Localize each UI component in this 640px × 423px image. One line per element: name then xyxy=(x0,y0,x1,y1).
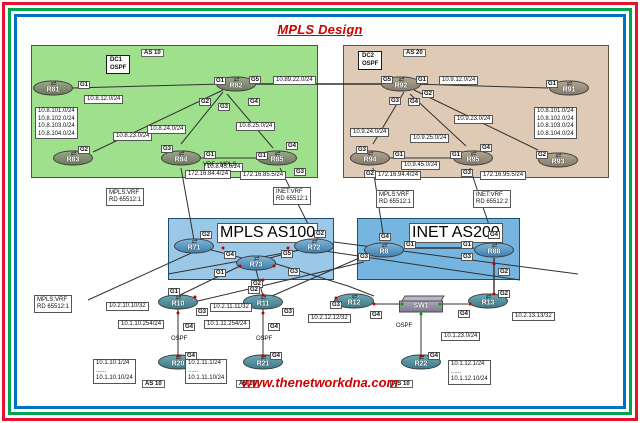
conn-dot xyxy=(177,355,180,358)
link-layer xyxy=(18,18,622,405)
router-label: R22 xyxy=(401,361,441,368)
port-r88-g3: G3 xyxy=(461,253,473,261)
port-r8-g3: G3 xyxy=(358,253,370,261)
subnet-172-16-85: 172.16.85.5/24 xyxy=(240,171,286,180)
conn-dot xyxy=(287,247,290,250)
subnet-10-1-10-254: 10.1.10.254/24 xyxy=(118,320,164,329)
router-label: R83 xyxy=(53,157,93,164)
port-r83-g2: G2 xyxy=(78,146,90,154)
router-label: R73 xyxy=(236,262,276,269)
port-r82-g4: G4 xyxy=(248,98,260,106)
port-r93-g2: G2 xyxy=(536,151,548,159)
as-badge-as10: AS 10 xyxy=(141,49,164,57)
vrf-box-mid-tan: MPLS:VRF RD 65512:1 xyxy=(376,190,414,208)
diagram-page: MPLS Design xyxy=(0,0,640,423)
port-r73-g4: G4 xyxy=(224,251,236,259)
port-r13-g4: G4 xyxy=(458,310,470,318)
port-r92-g1: G1 xyxy=(416,76,428,84)
conn-dot xyxy=(273,265,276,268)
port-r92-g3: G3 xyxy=(389,97,401,105)
conn-dot xyxy=(262,355,265,358)
conn-dot xyxy=(469,303,472,306)
port-r84-g1: G1 xyxy=(204,151,216,159)
port-r82-g2: G2 xyxy=(199,98,211,106)
loopback-r12: 10.2.12.12/32 xyxy=(308,314,351,323)
router-r73[interactable]: ⇄ R73 xyxy=(236,253,276,274)
port-r10-g3: G3 xyxy=(196,308,208,316)
label-vrf-mpls: VRF : MPLS xyxy=(203,162,236,168)
router-label: R72 xyxy=(294,245,334,252)
dc2-protocol: OSPF xyxy=(362,61,378,69)
port-r71-g2: G2 xyxy=(200,231,212,239)
loopback-r13: 10.2.13.13/32 xyxy=(512,312,555,321)
port-r92-g2: G2 xyxy=(422,90,434,98)
port-r11-g3: G3 xyxy=(282,308,294,316)
subnet-10-1-23: 10.1.23.0/24 xyxy=(441,332,480,341)
subnet-10-1-11-254: 10.1.11.254/24 xyxy=(204,320,250,329)
ospf-label-sw1: OSPF xyxy=(396,323,412,329)
ospf-label-r11: OSPF xyxy=(256,336,272,342)
port-r95-g4: G4 xyxy=(480,144,492,152)
router-r88[interactable]: ⇄ R88 xyxy=(474,240,514,261)
router-label: R84 xyxy=(161,157,201,164)
port-r73-g3: G3 xyxy=(288,268,300,276)
conn-dot-green xyxy=(420,313,423,316)
port-r92-g5: G5 xyxy=(381,76,393,84)
port-r8-g4: G4 xyxy=(379,233,391,241)
router-label: R94 xyxy=(350,157,390,164)
loopback-r10: 10.2.10.10/32 xyxy=(106,302,149,311)
switch-sw1[interactable]: SW1 xyxy=(399,296,443,313)
port-r13-g2: G2 xyxy=(498,290,510,298)
port-r10-g4: G4 xyxy=(183,323,195,331)
diagram-canvas: MPLS Design xyxy=(18,18,622,405)
switch-label: SW1 xyxy=(399,301,443,313)
router-label: R93 xyxy=(538,159,578,166)
conn-dot xyxy=(222,247,225,250)
conn-dot xyxy=(493,263,496,266)
port-r92-g4: G4 xyxy=(408,98,420,106)
router-r81[interactable]: ⇄ R81 xyxy=(33,78,73,99)
port-r12-g3: G3 xyxy=(330,301,342,309)
subnet-10-9-23: 10.9.23.0/24 xyxy=(454,115,493,124)
port-r73-g5: G5 xyxy=(281,250,293,258)
router-label: R88 xyxy=(474,249,514,256)
prefix-block-left: 10.8.101.0/24 10.8.102.0/24 10.8.103.0/2… xyxy=(35,107,78,139)
subnet-172-16-94: 172.16.94.4/24 xyxy=(375,171,421,180)
port-r84-g3: G3 xyxy=(161,145,173,153)
conn-dot xyxy=(262,279,265,282)
subnet-10-9-24: 10.9.24.0/24 xyxy=(350,128,389,137)
port-r88-g2: G2 xyxy=(498,268,510,276)
port-r11-g4: G4 xyxy=(268,323,280,331)
port-r88-g4: G4 xyxy=(488,231,500,239)
link-r81-r82 xyxy=(73,84,223,88)
port-r95-g3: G3 xyxy=(461,169,473,177)
port-r88-g1: G1 xyxy=(461,241,473,249)
router-label: R81 xyxy=(33,87,73,94)
dc2-title: DC2 xyxy=(362,53,378,61)
router-label: R21 xyxy=(243,361,283,368)
prefix-right-text: 10.8.101.0/24 10.8.102.0/24 10.8.103.0/2… xyxy=(537,108,574,137)
port-r85-g3: G3 xyxy=(294,168,306,176)
link-r92-r91 xyxy=(413,84,548,88)
conn-dot-green xyxy=(401,303,404,306)
conn-dot xyxy=(177,312,180,315)
subnet-172-16-84: 172.16.84.4/24 xyxy=(185,170,231,179)
conn-dot xyxy=(194,296,197,299)
router-label: R71 xyxy=(174,245,214,252)
subnet-10-8-12: 10.8.12.0/24 xyxy=(84,95,123,104)
conn-dot-green xyxy=(439,303,442,306)
port-r22-g4: G4 xyxy=(428,352,440,360)
port-r8-g1: G1 xyxy=(404,241,416,249)
subnet-10-89-22: 10.89.22.0/24 xyxy=(273,76,316,85)
port-r73-g1: G1 xyxy=(214,269,226,277)
router-r72[interactable]: ⇄ R72 xyxy=(294,236,334,257)
port-r81-g1: G1 xyxy=(78,81,90,89)
vrf-box-left-green: MPLS:VRF RD 65512:1 xyxy=(106,188,144,206)
vrf-box-right-tan: INET:VRF RD 65512:2 xyxy=(473,190,511,208)
port-r72-g2: G2 xyxy=(314,230,326,238)
subnet-172-16-95: 172.16.95.5/24 xyxy=(480,171,526,180)
port-r12-g4: G4 xyxy=(370,311,382,319)
ospf-label-r10: OSPF xyxy=(171,336,187,342)
conn-dot xyxy=(262,312,265,315)
as-badge-as20: AS 20 xyxy=(403,49,426,57)
conn-dot xyxy=(239,265,242,268)
vrf-box-bottom-left: MPLS:VRF RD 65512:1 xyxy=(34,295,72,313)
prefix-left-text: 10.8.101.0/24 10.8.102.0/24 10.8.103.0/2… xyxy=(38,108,75,137)
conn-dot xyxy=(373,303,376,306)
port-r95-g1: G1 xyxy=(450,151,462,159)
loopback-r11: 10.2.11.11/32 xyxy=(210,303,252,312)
conn-dot xyxy=(420,355,423,358)
dc2-box: DC2 OSPF xyxy=(358,51,382,70)
port-r82-g1: G1 xyxy=(214,77,226,85)
vrf-box-mid-green: INET:VRF RD 65512:1 xyxy=(273,187,311,205)
port-r94-g1: G1 xyxy=(393,151,405,159)
router-label: R10 xyxy=(158,301,198,308)
subnet-10-9-45: 10.9.45.0/24 xyxy=(401,161,440,170)
port-r82-g3: G3 xyxy=(218,103,230,111)
port-r85-g4: G4 xyxy=(286,142,298,150)
dc1-title: DC1 xyxy=(110,57,126,65)
router-label: R13 xyxy=(468,300,508,307)
port-r91-g1: G1 xyxy=(546,80,558,88)
port-r10-g1: G1 xyxy=(168,288,180,296)
conn-dot xyxy=(262,294,265,297)
port-r85-g1: G1 xyxy=(256,152,268,160)
subnet-10-9-12: 10.9.12.0/24 xyxy=(439,76,478,85)
port-r94-g3: G3 xyxy=(356,146,368,154)
subnet-10-9-25: 10.9.25.0/24 xyxy=(410,134,449,143)
dc1-protocol: OSPF xyxy=(110,65,126,73)
port-r21-g4: G4 xyxy=(270,352,282,360)
subnet-10-8-24: 10.8.24.0/24 xyxy=(147,125,186,134)
dc1-box: DC1 OSPF xyxy=(106,55,130,74)
subnet-10-8-25: 10.8.25.0/24 xyxy=(236,122,275,131)
port-r11-g2: G2 xyxy=(248,286,260,294)
prefix-block-right: 10.8.101.0/24 10.8.102.0/24 10.8.103.0/2… xyxy=(534,107,577,139)
conn-dot xyxy=(493,293,496,296)
port-r82-g5: G5 xyxy=(249,76,261,84)
conn-dot xyxy=(335,297,338,300)
footer-url: www.thenetworkdna.com xyxy=(18,375,622,390)
